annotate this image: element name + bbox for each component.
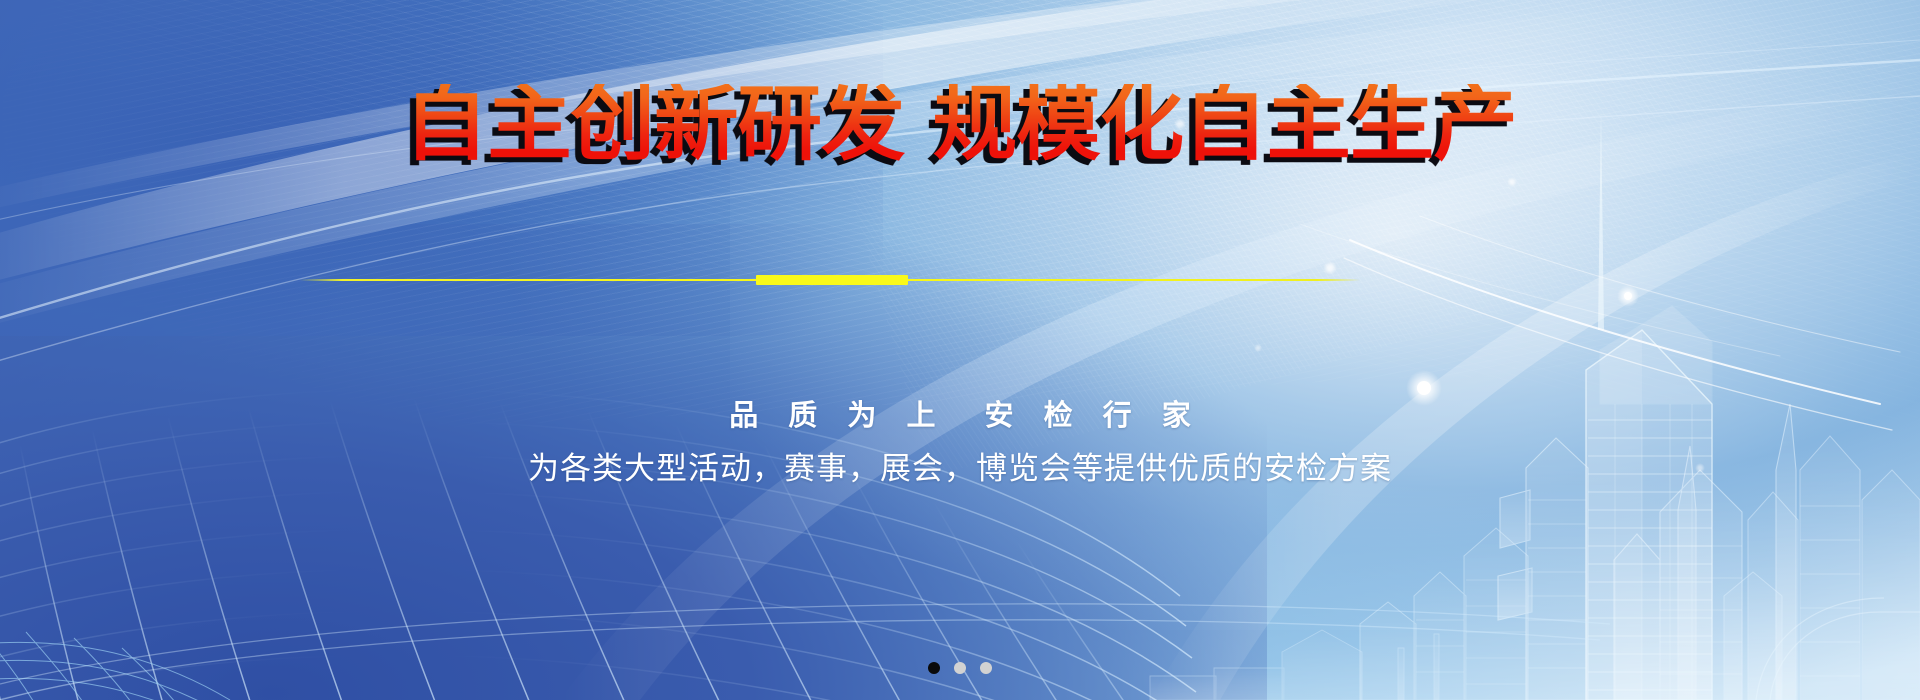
carousel-dot-3[interactable]	[980, 662, 992, 674]
carousel-dots[interactable]	[0, 662, 1920, 674]
hero-banner: 自主创新研发 规模化自主生产 品 质 为 上 安 检 行 家 为各类大型活动，赛…	[0, 0, 1920, 700]
background-vector-art	[0, 0, 1920, 700]
carousel-dot-1[interactable]	[928, 662, 940, 674]
carousel-dot-2[interactable]	[954, 662, 966, 674]
